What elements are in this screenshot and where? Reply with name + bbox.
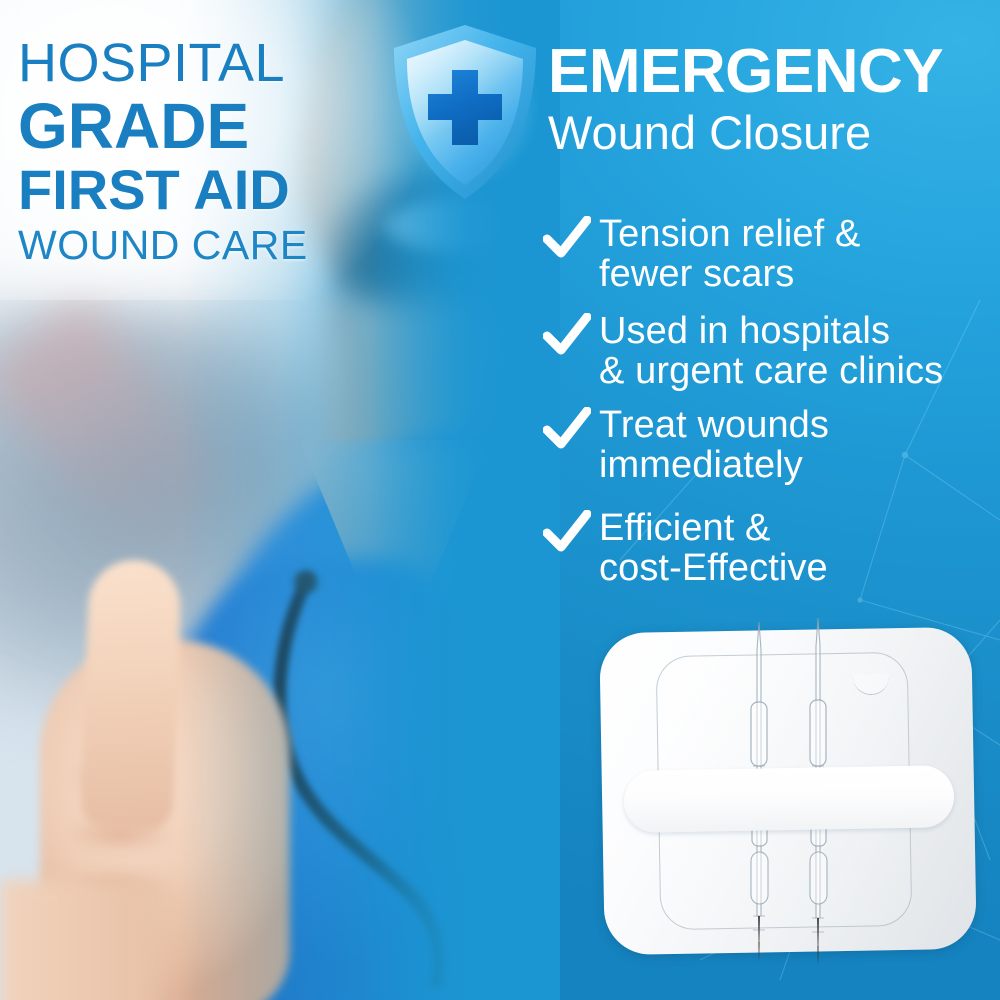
feature-bullet-item: Used in hospitals & urgent care clinics — [543, 311, 1000, 392]
product-marketing-banner: HOSPITAL GRADE FIRST AID WOUND CARE — [0, 0, 1000, 1000]
right-headline-block: EMERGENCY Wound Closure — [548, 40, 1000, 157]
headline-wound-closure: Wound Closure — [548, 109, 1000, 157]
feature-bullet-list: Tension relief & fewer scars Used in hos… — [543, 214, 1000, 604]
product-image — [594, 620, 992, 970]
feature-bullet-text: Used in hospitals & urgent care clinics — [599, 311, 943, 392]
feature-bullet-text: Tension relief & fewer scars — [599, 214, 860, 295]
check-icon — [543, 216, 591, 262]
headline-emergency: EMERGENCY — [548, 40, 1000, 103]
feature-bullet-item: Tension relief & fewer scars — [543, 214, 1000, 295]
feature-bullet-item: Treat wounds immediately — [543, 405, 1000, 486]
product-center-release-bar — [623, 765, 954, 833]
feature-bullet-text: Treat wounds immediately — [599, 405, 829, 486]
shield-with-cross-icon — [390, 22, 540, 202]
feature-bullet-text: Efficient & cost-Effective — [599, 508, 828, 589]
feature-bullet-item: Efficient & cost-Effective — [543, 508, 1000, 589]
check-icon — [543, 407, 591, 453]
check-icon — [543, 313, 591, 359]
check-icon — [543, 510, 591, 556]
headline-line-wound-care: WOUND CARE — [18, 225, 438, 266]
